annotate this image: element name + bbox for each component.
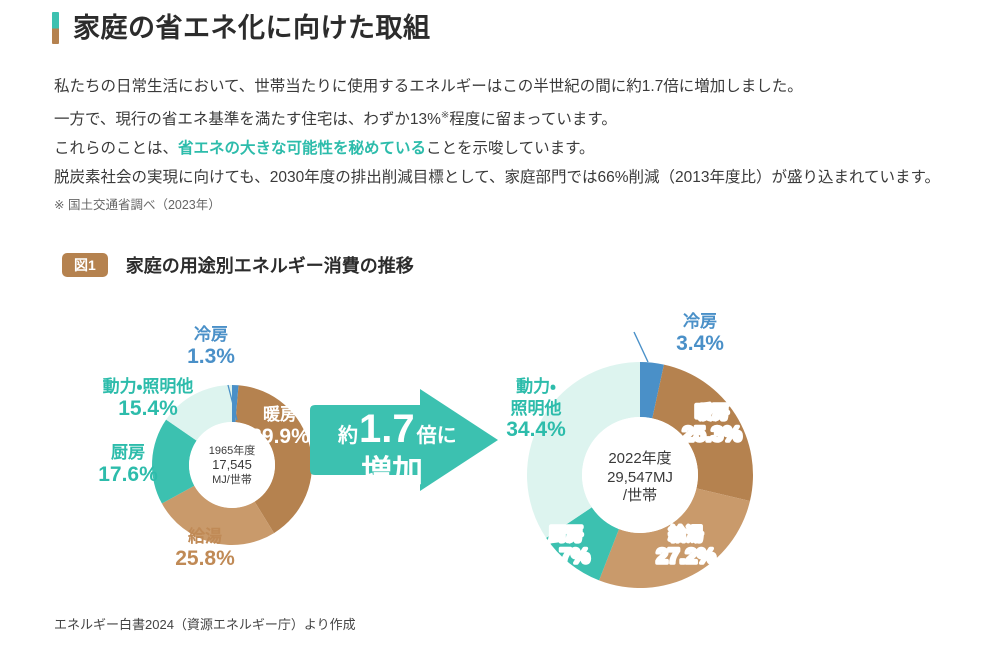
slice-label-厨房: 9.7% bbox=[542, 545, 590, 568]
arrow-suffix-text: 倍に bbox=[416, 423, 457, 447]
slice-label-動力・照明他: 34.4% bbox=[506, 418, 566, 441]
slice-label-動力・照明他: 動力・ bbox=[516, 376, 556, 396]
slice-label-厨房: 17.6% bbox=[98, 463, 158, 486]
figure-badge: 図1 bbox=[62, 253, 108, 277]
slice-label-冷房: 3.4% bbox=[676, 332, 724, 355]
intro-highlight: 省エネの大きな可能性を秘めている bbox=[178, 140, 426, 157]
intro-line-4: 脱炭素社会の実現に向けても、2030年度の排出削減目標として、家庭部門では66%… bbox=[54, 163, 979, 192]
source-credit: エネルギー白書2024（資源エネルギー庁）より作成 bbox=[54, 614, 356, 633]
slice-label-動力・照明他: 照明他 bbox=[511, 398, 562, 418]
donut-chart-1965: 1965年度 17,545 MJ/世帯 冷房1.3%暖房39.9%給湯25.8%… bbox=[98, 325, 312, 570]
intro-line-1: 私たちの日常生活において、世帯当たりに使用するエネルギーはこの半世紀の間に約1.… bbox=[54, 72, 979, 101]
footnote-text: ※ 国土交通省調べ（2023年） bbox=[54, 194, 221, 213]
donut-center-total-1965: 17,545 bbox=[212, 457, 252, 472]
growth-arrow: 約1.7倍に 増加 bbox=[310, 389, 498, 491]
figure-title: 家庭の用途別エネルギー消費の推移 bbox=[126, 252, 414, 278]
arrow-prefix-text: 約 bbox=[337, 423, 358, 447]
slice-label-給湯: 給湯 bbox=[668, 524, 703, 544]
intro-line-3-a: これらのことは、 bbox=[54, 140, 178, 157]
slice-label-給湯: 25.8% bbox=[175, 547, 235, 570]
donut-center-total-2022: 29,547MJ bbox=[607, 469, 673, 486]
slice-label-動力・照明他: 動力・照明他 bbox=[103, 376, 194, 396]
intro-line-2-b: 程度に留まっています。 bbox=[449, 111, 617, 128]
slice-label-暖房: 25.3% bbox=[682, 423, 742, 446]
leader-line-reibou-2022 bbox=[634, 332, 648, 362]
page-title-text: 家庭の省エネ化に向けた取組 bbox=[73, 15, 431, 42]
slice-label-給湯: 給湯 bbox=[187, 526, 222, 546]
figure-heading: 図1 家庭の用途別エネルギー消費の推移 bbox=[62, 252, 414, 278]
intro-line-3: これらのことは、省エネの大きな可能性を秘めていることを示唆しています。 bbox=[54, 134, 979, 163]
slice-label-給湯: 27.2% bbox=[656, 545, 716, 568]
slice-label-厨房: 厨房 bbox=[549, 525, 583, 544]
slice-label-暖房: 39.9% bbox=[250, 425, 310, 448]
slice-label-冷房: 冷房 bbox=[683, 312, 717, 331]
energy-consumption-charts: 1965年度 17,545 MJ/世帯 冷房1.3%暖房39.9%給湯25.8%… bbox=[0, 290, 982, 600]
donut-center-unit-1965: MJ/世帯 bbox=[212, 473, 252, 486]
slice-label-冷房: 1.3% bbox=[187, 345, 235, 368]
slice-label-冷房: 冷房 bbox=[194, 325, 228, 344]
slice-label-暖房: 暖房 bbox=[263, 404, 297, 424]
intro-paragraph: 私たちの日常生活において、世帯当たりに使用するエネルギーはこの半世紀の間に約1.… bbox=[54, 72, 979, 192]
arrow-line2-text: 増加 bbox=[361, 454, 423, 489]
intro-line-2-a: 一方で、現行の省エネ基準を満たす住宅は、わずか13% bbox=[54, 111, 441, 128]
donut-center-year-2022: 2022年度 bbox=[608, 450, 671, 467]
page-title: 家庭の省エネ化に向けた取組 bbox=[52, 12, 431, 44]
slice-label-厨房: 厨房 bbox=[111, 443, 145, 462]
intro-line-2: 一方で、現行の省エネ基準を満たす住宅は、わずか13%※程度に留まっています。 bbox=[54, 101, 979, 134]
figure-chart-area: 1965年度 17,545 MJ/世帯 冷房1.3%暖房39.9%給湯25.8%… bbox=[0, 290, 982, 600]
intro-line-3-b: ことを示唆しています。 bbox=[426, 140, 595, 157]
donut-center-year-1965: 1965年度 bbox=[209, 443, 255, 457]
arrow-value-text: 1.7 bbox=[359, 407, 415, 451]
slice-label-暖房: 暖房 bbox=[695, 402, 729, 422]
donut-chart-2022: 2022年度 29,547MJ /世帯 冷房3.4%暖房25.3%給湯27.2%… bbox=[506, 312, 753, 588]
slice-label-動力・照明他: 15.4% bbox=[118, 397, 178, 420]
donut-center-unit-2022: /世帯 bbox=[623, 487, 657, 504]
title-accent-bar bbox=[52, 12, 59, 44]
